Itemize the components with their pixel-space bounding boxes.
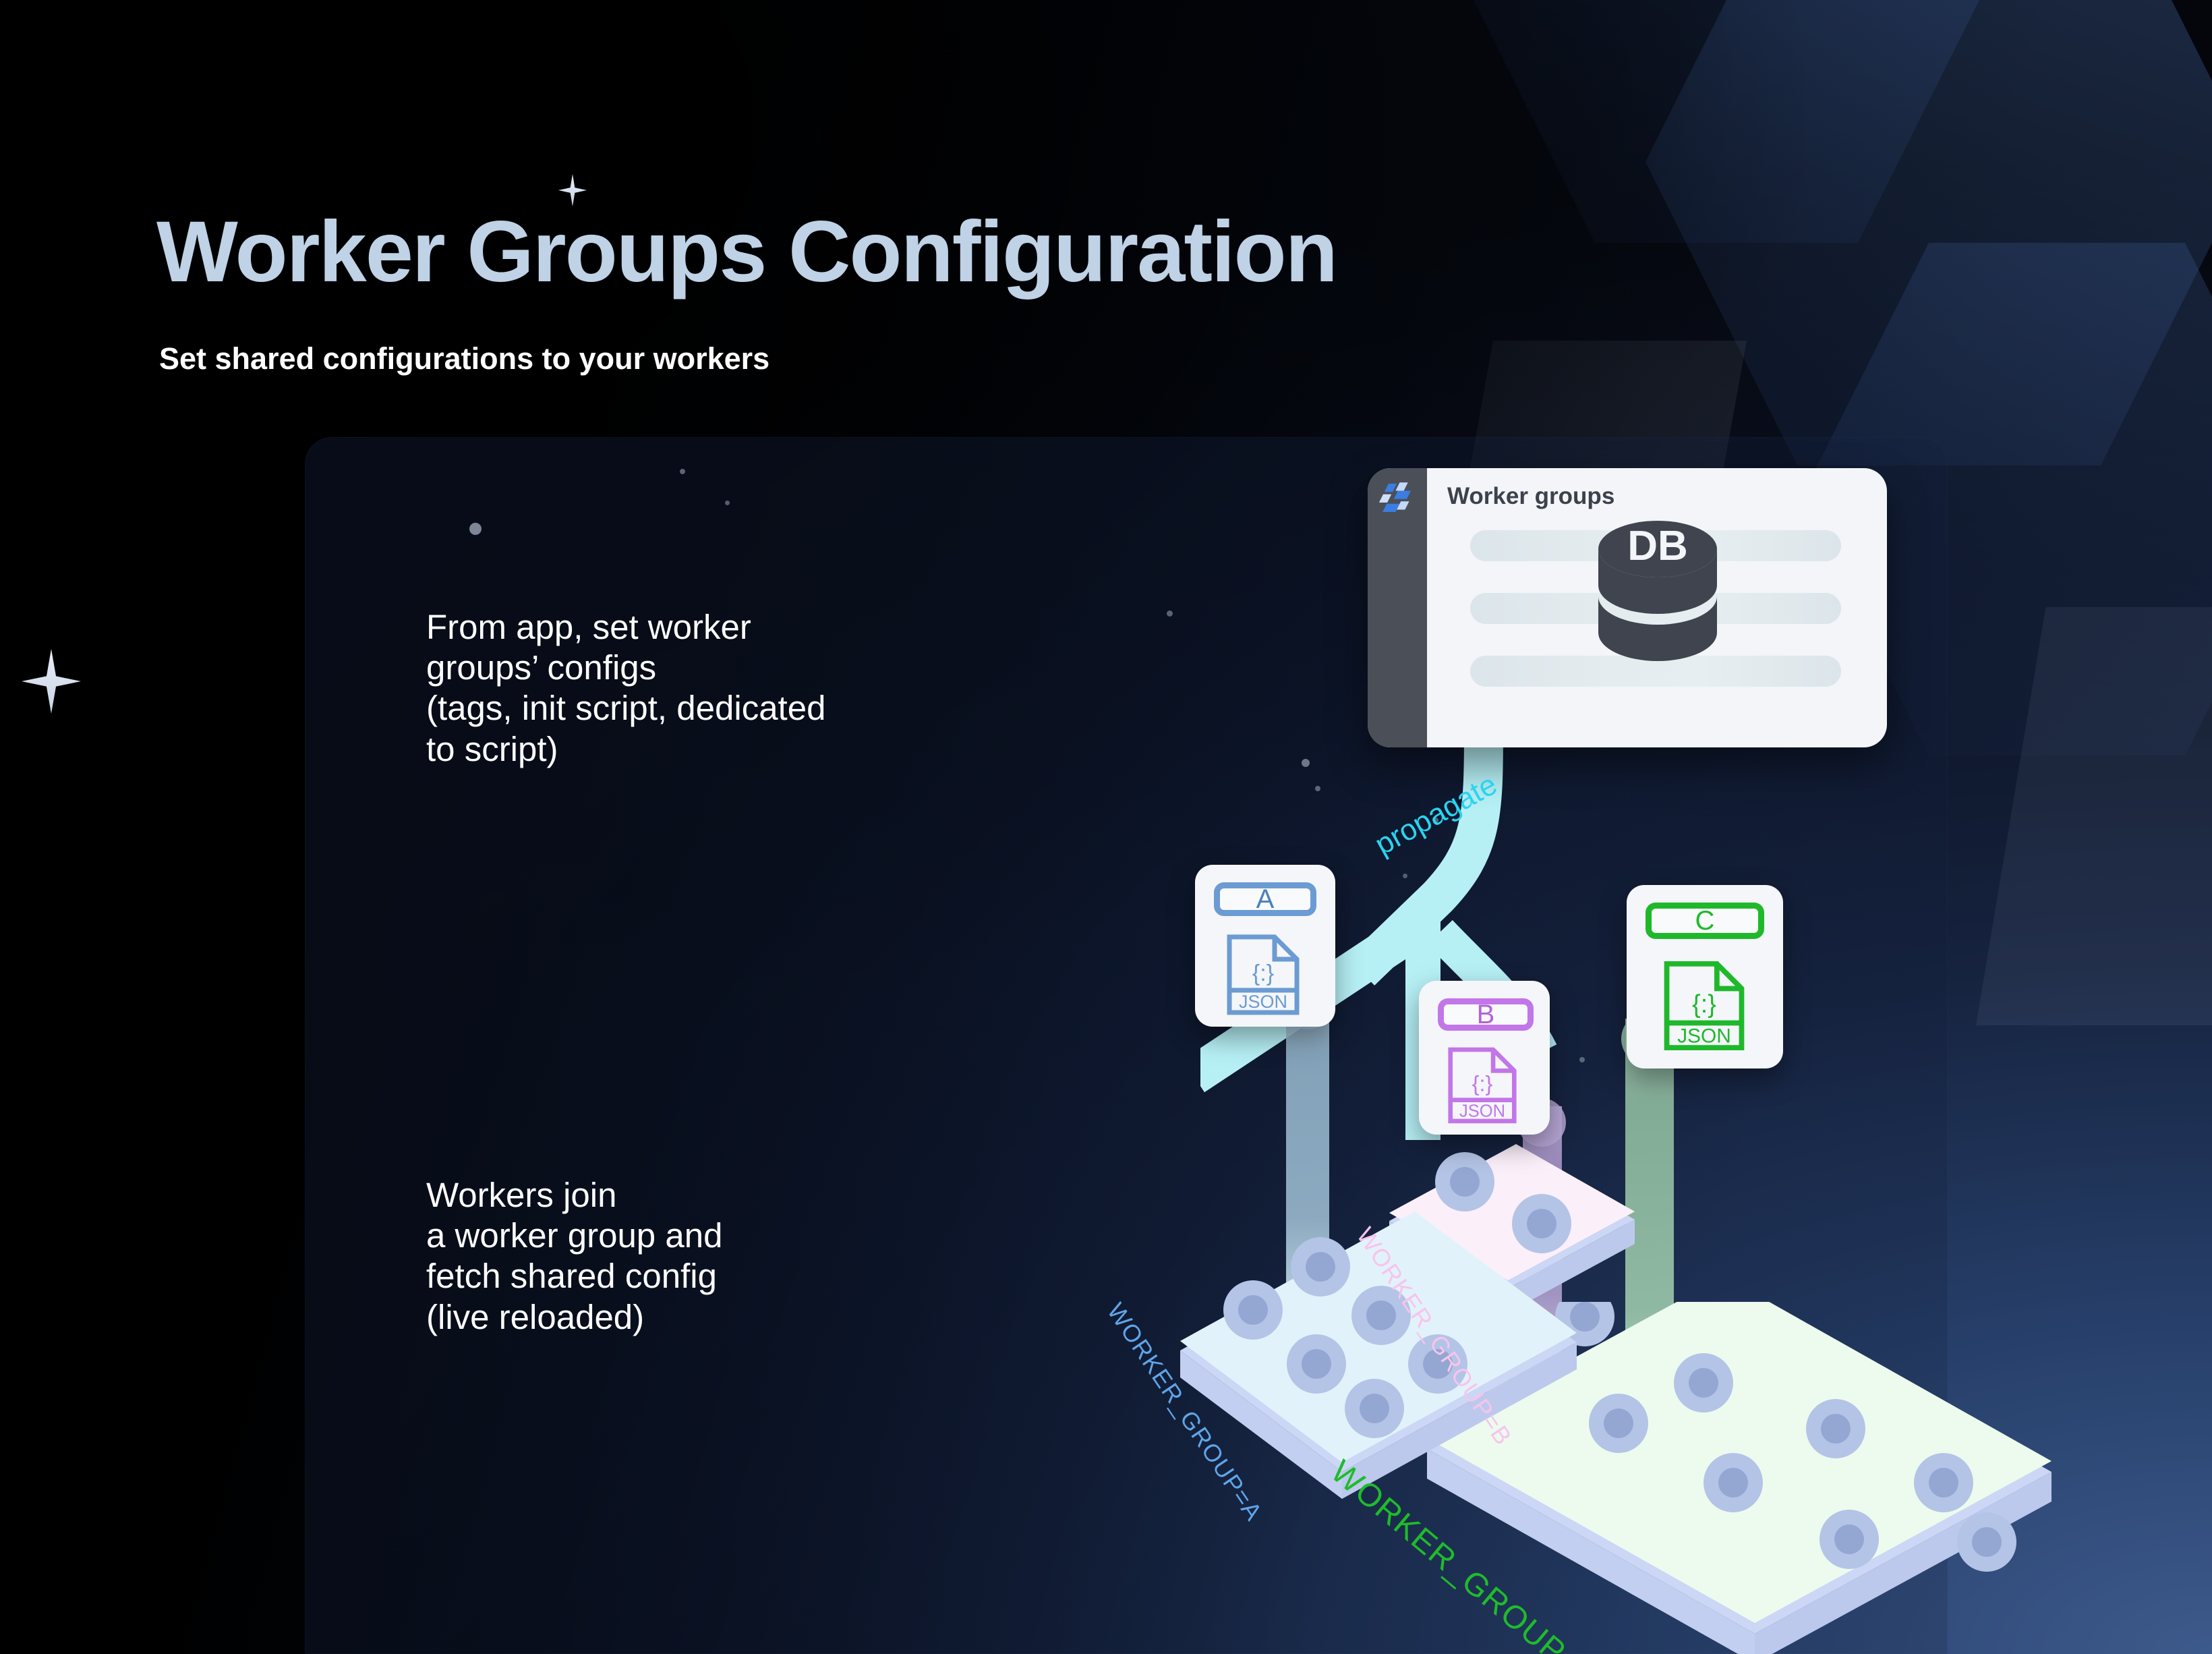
json-glyph: {:} — [1252, 961, 1274, 986]
json-file-icon: {:} JSON — [1663, 959, 1745, 1052]
callout-worker-join: Workers join a worker group and fetch sh… — [426, 1175, 722, 1338]
database-icon: DB — [1597, 521, 1718, 676]
star-dot-4 — [1167, 610, 1173, 617]
callout-app-config: From app, set worker groups’ configs (ta… — [426, 607, 825, 770]
database-label: DB — [1627, 523, 1688, 569]
json-label: JSON — [1677, 1025, 1731, 1047]
group-card-b[interactable]: B {:} JSON — [1419, 981, 1550, 1135]
callout-line: to script) — [426, 729, 825, 770]
group-chip-b: B — [1438, 998, 1534, 1031]
worker-groups-card[interactable]: Worker groups DB — [1368, 468, 1887, 747]
card-title: Worker groups — [1447, 483, 1614, 510]
star-dot-1 — [469, 523, 482, 535]
json-glyph: {:} — [1472, 1072, 1493, 1096]
page-subtitle: Set shared configurations to your worker… — [159, 341, 769, 376]
group-card-a[interactable]: A {:} JSON — [1195, 865, 1335, 1027]
callout-line: a worker group and — [426, 1216, 722, 1256]
callout-line: fetch shared config — [426, 1256, 722, 1296]
callout-line: (tags, init script, dedicated — [426, 688, 825, 729]
group-card-c[interactable]: C {:} JSON — [1627, 885, 1783, 1068]
page-title: Worker Groups Configuration — [156, 209, 1337, 295]
json-label: JSON — [1459, 1102, 1505, 1120]
callout-line: From app, set worker — [426, 607, 825, 648]
callout-line: groups’ configs — [426, 648, 825, 688]
windmill-logo-icon — [1378, 479, 1416, 517]
callout-line: Workers join — [426, 1175, 722, 1216]
group-chip-a: A — [1214, 882, 1316, 916]
star-dot-2 — [680, 469, 685, 474]
json-file-icon: {:} JSON — [1226, 934, 1300, 1016]
group-chip-c: C — [1646, 903, 1764, 939]
json-glyph: {:} — [1692, 990, 1716, 1018]
callout-line: (live reloaded) — [426, 1297, 722, 1338]
slide-canvas: Worker Groups Configuration Set shared c… — [0, 0, 2212, 1654]
star-dot-3 — [725, 501, 730, 505]
json-label: JSON — [1239, 992, 1287, 1012]
json-file-icon: {:} JSON — [1447, 1046, 1517, 1125]
